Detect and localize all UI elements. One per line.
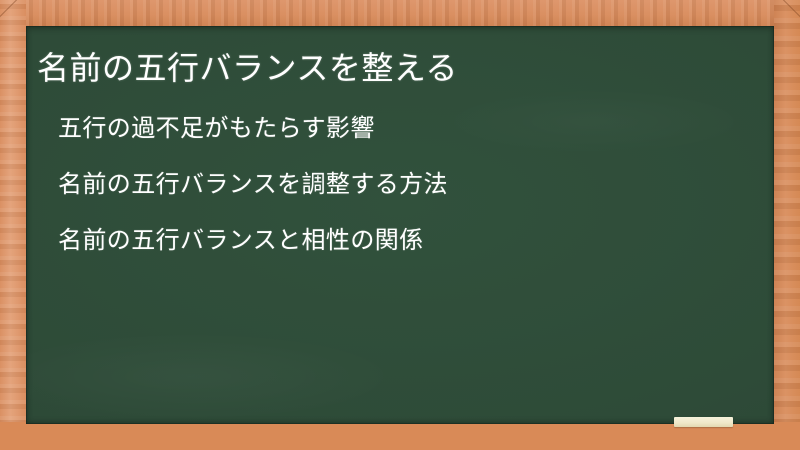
outline-item-2: 名前の五行バランスを調整する方法: [58, 170, 448, 200]
outline-item-3: 名前の五行バランスと相性の関係: [58, 226, 448, 256]
blackboard-scene: 名前の五行バランスを整える 五行の過不足がもたらす影響 名前の五行バランスを調整…: [0, 0, 800, 450]
frame-right-rail: [774, 0, 800, 450]
frame-top-rail: [0, 0, 800, 26]
chalk-stick: [674, 417, 733, 427]
board-content: 名前の五行バランスを整える 五行の過不足がもたらす影響 名前の五行バランスを調整…: [26, 26, 774, 424]
chalkboard-surface: 名前の五行バランスを整える 五行の過不足がもたらす影響 名前の五行バランスを調整…: [26, 26, 774, 424]
frame-left-rail: [0, 0, 26, 450]
outline-item-1: 五行の過不足がもたらす影響: [58, 114, 448, 144]
board-title: 名前の五行バランスを整える: [37, 48, 458, 88]
outline-list: 五行の過不足がもたらす影響 名前の五行バランスを調整する方法 名前の五行バランス…: [58, 114, 448, 256]
